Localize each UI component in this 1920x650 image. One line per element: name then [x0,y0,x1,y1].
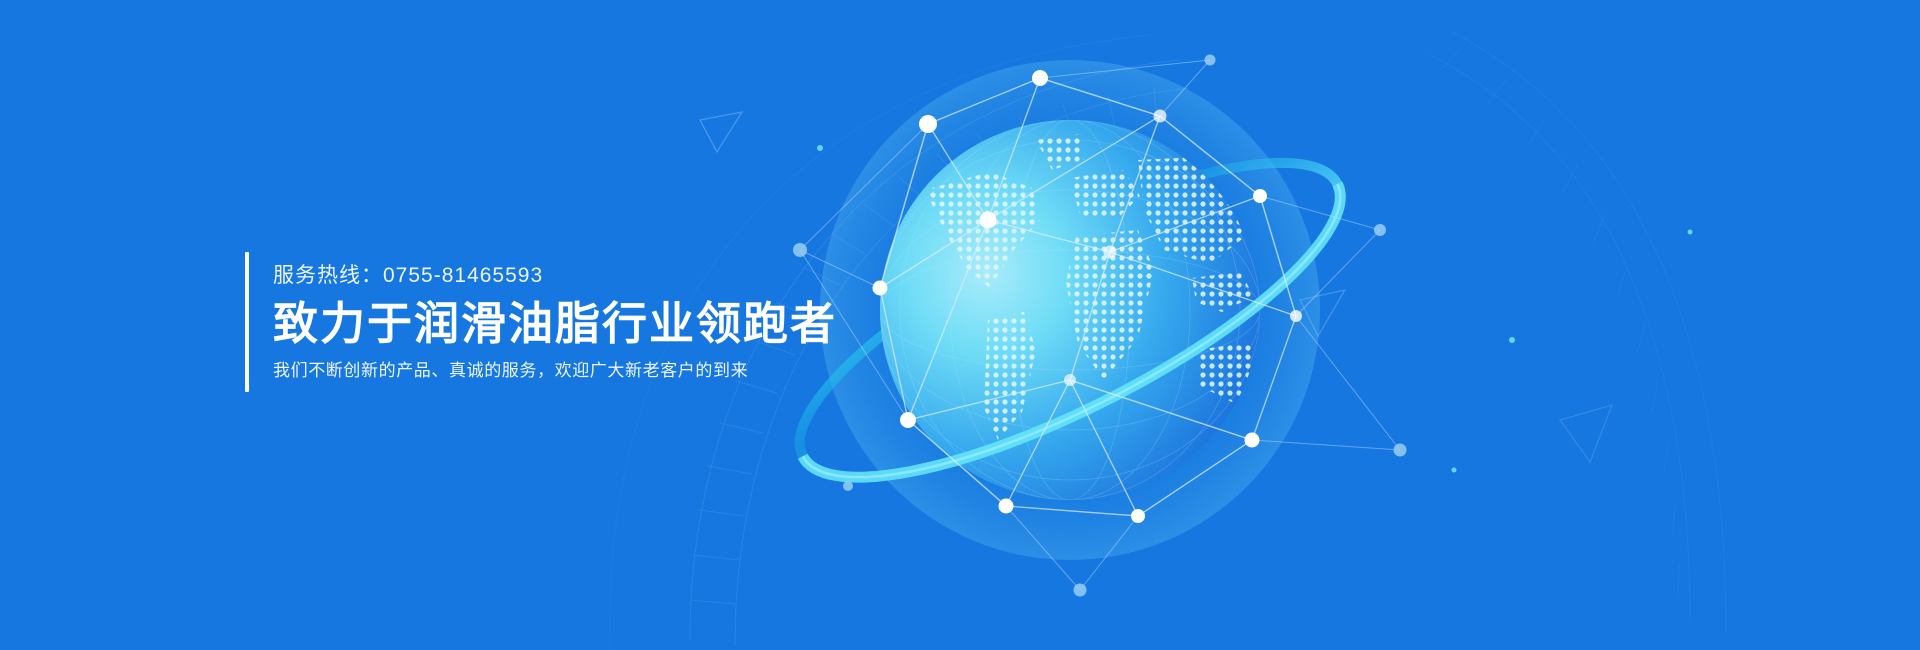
hero-text-block: 服务热线：0755-81465593 致力于润滑油脂行业领跑者 我们不断创新的产… [245,252,837,392]
hero-text-column: 服务热线：0755-81465593 致力于润滑油脂行业领跑者 我们不断创新的产… [249,252,837,392]
page-title: 致力于润滑油脂行业领跑者 [273,300,837,348]
hero-banner: 服务热线：0755-81465593 致力于润滑油脂行业领跑者 我们不断创新的产… [0,0,1920,650]
globe-network-illustration [740,20,1460,630]
page-subtitle: 我们不断创新的产品、真诚的服务，欢迎广大新老客户的到来 [273,362,837,379]
service-hotline: 服务热线：0755-81465593 [273,265,837,286]
